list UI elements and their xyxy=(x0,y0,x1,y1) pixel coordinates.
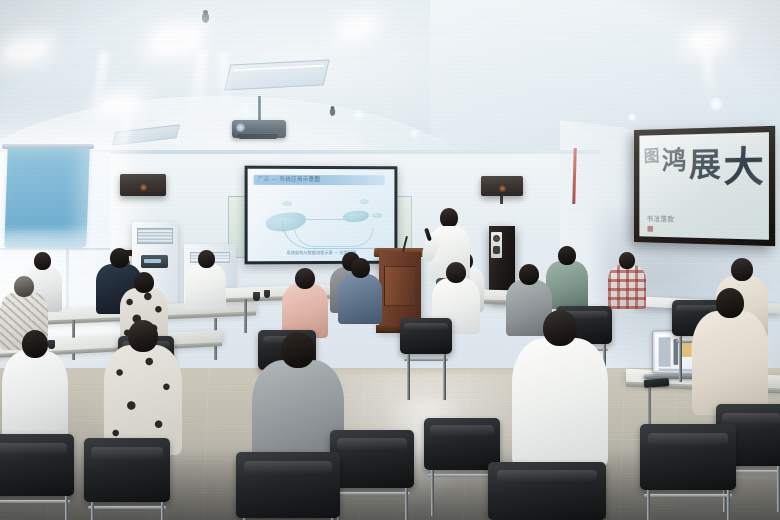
chair-back[interactable] xyxy=(236,452,340,518)
diagram-link xyxy=(304,219,344,220)
calligraphy-char-1: 大 xyxy=(723,147,763,188)
sprinkler-head-2 xyxy=(330,109,335,116)
conference-room-photo: 图 鸿 展 大 书法落款 产品 — 系统应用示意图 xyxy=(0,0,780,520)
presenter-head xyxy=(440,208,458,228)
diagram-node-small-3 xyxy=(372,213,383,218)
lectern-front-panel xyxy=(384,266,416,306)
chair-leg xyxy=(679,336,682,382)
panel-light-center-low xyxy=(97,95,140,116)
attendee-f1-head xyxy=(22,330,48,358)
attendee-b3-head xyxy=(198,250,215,268)
calligraphy-char-4: 图 xyxy=(644,149,660,166)
wall-speaker-left xyxy=(120,174,166,196)
chair-back[interactable] xyxy=(0,434,74,496)
attendee-m5-head xyxy=(446,262,466,283)
attendee-f1-torso xyxy=(2,351,68,447)
wall-calligraphy: 图 鸿 展 大 书法落款 xyxy=(634,126,775,246)
chair-back[interactable] xyxy=(488,462,606,520)
attendee-m6-head xyxy=(519,264,539,285)
calligraphy-mat: 图 鸿 展 大 书法落款 xyxy=(639,132,769,240)
sprinkler-head xyxy=(202,14,209,23)
chair-rail xyxy=(0,500,70,503)
wall-speaker-right xyxy=(481,176,523,196)
attendee-f4-torso xyxy=(512,338,608,468)
diagram-connector-2 xyxy=(294,227,374,247)
ac-grille xyxy=(137,228,173,244)
laptop-doc-bar xyxy=(673,339,678,365)
chair-back[interactable] xyxy=(640,424,736,490)
chair-leg xyxy=(405,488,408,520)
slide-caption: 系统架构与数据流程示意 — 应用说明 xyxy=(248,250,395,256)
ceiling-spot-f xyxy=(627,112,637,122)
attendee-b2-head xyxy=(110,248,129,268)
attendee-b6-head xyxy=(558,246,576,265)
calligraphy-characters: 图 鸿 展 大 xyxy=(644,147,764,188)
attendee-f5-head xyxy=(716,288,744,318)
laptop-doc-column xyxy=(659,337,671,367)
chair-leg xyxy=(407,354,410,400)
calligraphy-char-3: 鸿 xyxy=(662,148,686,174)
attendee-f3-head xyxy=(281,332,315,368)
laptop-doc-highlight xyxy=(681,343,692,357)
ceiling-air-vent xyxy=(224,59,329,90)
diagram-node-small-2 xyxy=(360,199,369,204)
diagram-node-small-1 xyxy=(282,201,292,206)
attendee-m4-head xyxy=(351,258,370,278)
attendee-b7-head xyxy=(619,252,635,269)
attendee-b1-head xyxy=(34,252,51,270)
chair-rail xyxy=(404,358,448,361)
attendee-f4-head xyxy=(543,310,577,346)
attendee-m3-head xyxy=(295,268,315,289)
chair-leg xyxy=(777,466,780,512)
chair-back[interactable] xyxy=(400,318,452,354)
attendee-m1-head xyxy=(14,276,34,297)
calligraphy-signature: 书法落款 xyxy=(647,214,675,224)
chair-rail xyxy=(88,506,166,509)
chair-leg xyxy=(647,490,650,520)
projection-screen-surface: 产品 — 系统应用示意图 系统架构与数据流程示意 — 应用说明 xyxy=(248,169,395,262)
chair-leg xyxy=(727,490,730,520)
chair-back[interactable] xyxy=(84,438,170,502)
chair-rail xyxy=(334,492,410,495)
attendee-m7-head xyxy=(731,258,753,281)
slide-title: 产品 — 系统应用示意图 xyxy=(258,175,320,185)
attendee-f5-torso xyxy=(692,311,768,415)
cup xyxy=(264,290,270,298)
attendee-b6-torso xyxy=(546,261,588,309)
chair-leg xyxy=(443,354,446,400)
ceiling-spot-a xyxy=(236,100,256,120)
table-leg xyxy=(244,299,247,333)
chair-back[interactable] xyxy=(424,418,500,470)
chair-rail xyxy=(428,474,496,477)
attendee-m2-head xyxy=(134,272,154,293)
attendee-b3-torso xyxy=(186,264,226,310)
projector-mount-pole xyxy=(258,96,261,122)
ceiling-spot-c xyxy=(352,108,365,121)
chair-leg xyxy=(431,470,434,516)
attendee-f2-head xyxy=(128,320,158,352)
calligraphy-seal-icon xyxy=(648,226,653,232)
chair-back[interactable] xyxy=(330,430,414,488)
chair-leg xyxy=(65,496,68,520)
speaker-driver-icon xyxy=(491,232,502,258)
panel-light-left xyxy=(1,38,51,61)
attendee-b7-torso xyxy=(608,265,646,309)
calligraphy-char-2: 展 xyxy=(689,148,721,181)
ceiling-spot-d xyxy=(409,128,420,139)
projector-lens-icon xyxy=(236,123,245,132)
cup xyxy=(253,292,260,301)
chair-leg xyxy=(91,502,94,520)
chair-rail xyxy=(644,494,732,497)
ac-control-panel[interactable] xyxy=(141,255,168,268)
attendee-m4-torso xyxy=(338,274,382,324)
cup xyxy=(48,340,55,349)
chair-leg xyxy=(161,502,164,520)
